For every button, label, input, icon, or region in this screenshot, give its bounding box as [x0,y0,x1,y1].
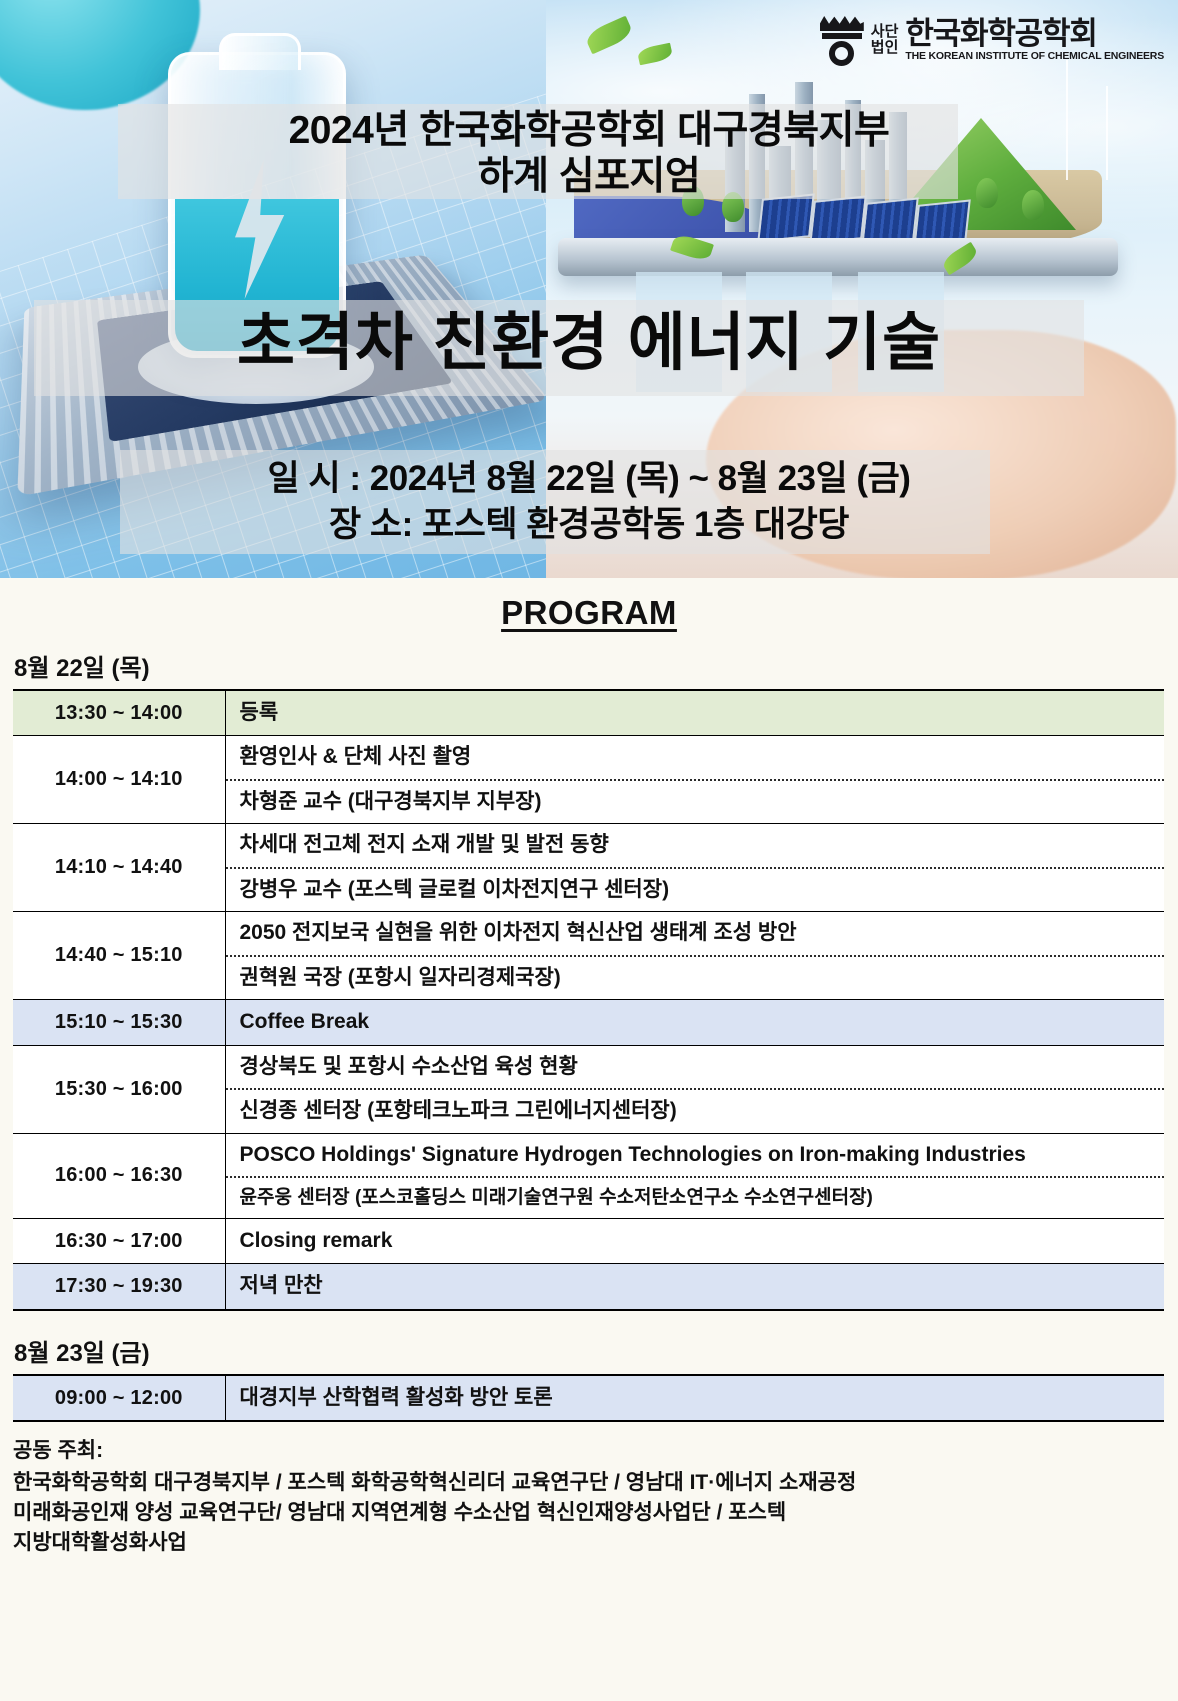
kiche-emblem-icon [820,14,864,66]
row-time: 16:30 ~ 17:00 [13,1218,225,1263]
row-time: 09:00 ~ 12:00 [13,1375,225,1421]
logo-corporation-label: 사단 법인 [871,24,899,56]
event-date: 일 시 : 2024년 8월 22일 (목) ~ 8월 23일 (금) [0,458,1178,499]
row-body: 차세대 전고체 전지 소재 개발 및 발전 동향 강병우 교수 (포스텍 글로컬… [225,824,1164,912]
session-title: 경상북도 및 포항시 수소산업 육성 현황 [226,1046,1165,1090]
table-row: 13:30 ~ 14:00 등록 [13,690,1164,736]
session-speaker: 강병우 교수 (포스텍 글로컬 이차전지연구 센터장) [226,869,1165,911]
row-time: 14:10 ~ 14:40 [13,824,225,912]
row-single-text: 대경지부 산학협력 활성화 방안 토론 [226,1376,1165,1420]
co-hosts-line1: 한국화학공학회 대구경북지부 / 포스텍 화학공학혁신리더 교육연구단 / 영남… [13,1468,1178,1498]
row-single-text: Closing remark [226,1219,1165,1263]
session-title: 2050 전지보국 실현을 위한 이차전지 혁신산업 생태계 조성 방안 [226,912,1165,956]
emblem-ring [829,41,854,66]
co-hosts-heading: 공동 주최: [13,1436,1178,1466]
logo-names: 한국화학공학회 THE KOREAN INSTITUTE OF CHEMICAL… [905,18,1164,62]
row-body: 환영인사 & 단체 사진 촬영 차형준 교수 (대구경북지부 지부장) [225,736,1164,824]
table-row: 15:10 ~ 15:30 Coffee Break [13,1000,1164,1045]
event-subtitle: 초격차 친환경 에너지 기술 [0,306,1178,380]
table-row: 16:00 ~ 16:30 POSCO Holdings' Signature … [13,1133,1164,1218]
table-row: 14:40 ~ 15:10 2050 전지보국 실현을 위한 이차전지 혁신산업… [13,912,1164,1000]
event-title: 2024년 한국화학공학회 대구경북지부 하계 심포지엄 [0,108,1178,200]
logo-english-name: THE KOREAN INSTITUTE OF CHEMICAL ENGINEE… [905,51,1164,62]
society-logo: 사단 법인 한국화학공학회 THE KOREAN INSTITUTE OF CH… [820,14,1164,66]
event-title-line2: 하계 심포지엄 [0,154,1178,200]
row-body: 저녁 만찬 [225,1264,1164,1310]
session-speaker: 권혁원 국장 (포항시 일자리경제국장) [226,957,1165,999]
session-speaker: 차형준 교수 (대구경북지부 지부장) [226,781,1165,823]
row-single-text: 등록 [226,691,1165,735]
row-time: 13:30 ~ 14:00 [13,690,225,736]
session-speaker: 신경종 센터장 (포항테크노파크 그린에너지센터장) [226,1090,1165,1132]
hero-banner: 사단 법인 한국화학공학회 THE KOREAN INSTITUTE OF CH… [0,0,1178,578]
day1-label: 8월 22일 (목) [14,648,1178,683]
row-time: 15:30 ~ 16:00 [13,1045,225,1133]
logo-korean-name: 한국화학공학회 [905,18,1164,49]
day1-schedule-table: 13:30 ~ 14:00 등록 14:00 ~ 14:10 환영인사 & 단체… [13,689,1164,1311]
day1-schedule-body: 13:30 ~ 14:00 등록 14:00 ~ 14:10 환영인사 & 단체… [13,690,1164,1310]
program-heading: PROGRAM [0,578,1178,632]
row-single-text: 저녁 만찬 [226,1264,1165,1308]
row-time: 15:10 ~ 15:30 [13,1000,225,1045]
row-body: 등록 [225,690,1164,736]
emblem-crown [820,16,864,31]
table-row: 14:00 ~ 14:10 환영인사 & 단체 사진 촬영 차형준 교수 (대구… [13,736,1164,824]
session-title: POSCO Holdings' Signature Hydrogen Techn… [226,1134,1165,1178]
co-hosts-footer: 공동 주최: 한국화학공학회 대구경북지부 / 포스텍 화학공학혁신리더 교육연… [13,1436,1178,1573]
session-speaker: 윤주웅 센터장 (포스코홀딩스 미래기술연구원 수소저탄소연구소 수소연구센터장… [226,1178,1165,1218]
solar-panel [757,193,815,242]
row-body: 2050 전지보국 실현을 위한 이차전지 혁신산업 생태계 조성 방안 권혁원… [225,912,1164,1000]
day2-label: 8월 23일 (금) [14,1333,1178,1368]
battery-cap [219,33,301,70]
day2-schedule-table: 09:00 ~ 12:00 대경지부 산학협력 활성화 방안 토론 [13,1374,1164,1422]
tablet-device [558,238,1118,276]
row-body: POSCO Holdings' Signature Hydrogen Techn… [225,1133,1164,1218]
row-body: Coffee Break [225,1000,1164,1045]
logo-sadan-line2: 법인 [871,40,899,56]
session-title: 차세대 전고체 전지 소재 개발 및 발전 동향 [226,824,1165,868]
table-row: 15:30 ~ 16:00 경상북도 및 포항시 수소산업 육성 현황 신경종 … [13,1045,1164,1133]
day2-schedule-body: 09:00 ~ 12:00 대경지부 산학협력 활성화 방안 토론 [13,1375,1164,1421]
row-body: 대경지부 산학협력 활성화 방안 토론 [225,1375,1164,1421]
session-title: 환영인사 & 단체 사진 촬영 [226,736,1165,780]
table-row: 09:00 ~ 12:00 대경지부 산학협력 활성화 방안 토론 [13,1375,1164,1421]
row-time: 14:40 ~ 15:10 [13,912,225,1000]
table-row: 16:30 ~ 17:00 Closing remark [13,1218,1164,1263]
row-body: Closing remark [225,1218,1164,1263]
poster: 사단 법인 한국화학공학회 THE KOREAN INSTITUTE OF CH… [0,0,1178,1701]
row-time: 17:30 ~ 19:30 [13,1264,225,1310]
emblem-bar [822,33,862,39]
event-title-line1: 2024년 한국화학공학회 대구경북지부 [289,109,890,152]
table-row: 17:30 ~ 19:30 저녁 만찬 [13,1264,1164,1310]
row-body: 경상북도 및 포항시 수소산업 육성 현황 신경종 센터장 (포항테크노파크 그… [225,1045,1164,1133]
co-hosts-line2: 미래화공인재 양성 교육연구단/ 영남대 지역연계형 수소산업 혁신인재양성사업… [13,1498,1178,1528]
program-section: PROGRAM 8월 22일 (목) 13:30 ~ 14:00 등록 14:0… [0,578,1178,1574]
co-hosts-line3: 지방대학활성화사업 [13,1528,1178,1558]
row-single-text: Coffee Break [226,1000,1165,1044]
event-venue: 장 소: 포스텍 환경공학동 1층 대강당 [0,504,1178,545]
row-time: 16:00 ~ 16:30 [13,1133,225,1218]
logo-sadan-line1: 사단 [871,24,899,40]
row-time: 14:00 ~ 14:10 [13,736,225,824]
table-row: 14:10 ~ 14:40 차세대 전고체 전지 소재 개발 및 발전 동향 강… [13,824,1164,912]
